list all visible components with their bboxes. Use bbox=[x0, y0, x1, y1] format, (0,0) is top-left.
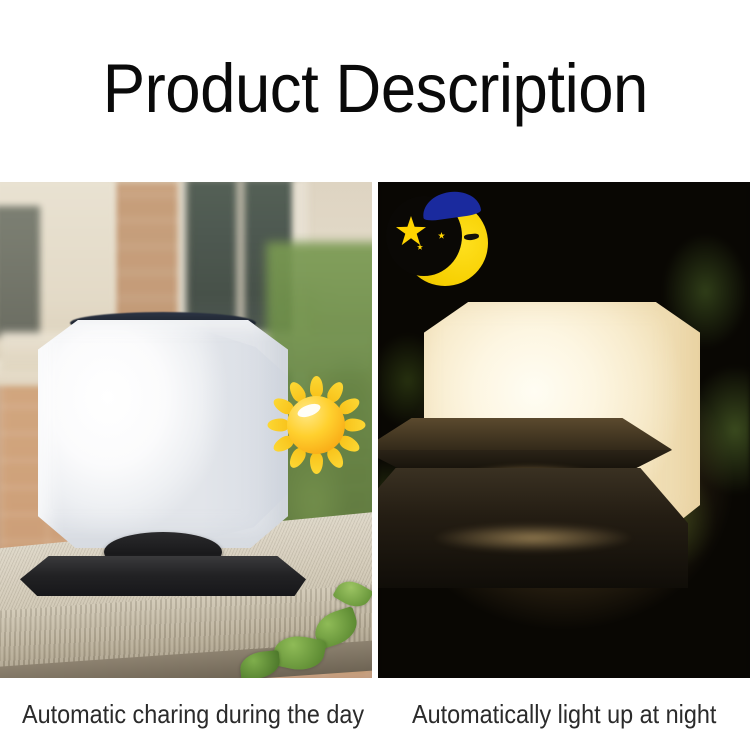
lamp-base-plate bbox=[20, 556, 306, 596]
sun-icon bbox=[268, 377, 364, 473]
caption-day: Automatic charing during the day bbox=[22, 678, 364, 750]
sun-ray bbox=[267, 419, 289, 432]
photo-strip bbox=[0, 182, 750, 678]
solar-pillar-lamp-day bbox=[38, 320, 288, 570]
page-title: Product Description bbox=[102, 49, 647, 128]
sun-ray bbox=[310, 452, 323, 474]
product-description-page: Product Description bbox=[0, 0, 750, 750]
light-spill-pillar bbox=[408, 518, 658, 558]
sun-ray bbox=[310, 376, 323, 398]
window-glass-left bbox=[0, 206, 40, 338]
moon-icon bbox=[394, 190, 500, 290]
photo-night[interactable] bbox=[378, 182, 750, 678]
caption-row: Automatic charing during the day Automat… bbox=[0, 678, 750, 750]
photo-day[interactable] bbox=[0, 182, 372, 678]
title-bar: Product Description bbox=[0, 0, 750, 182]
sun-ray bbox=[343, 419, 365, 432]
caption-night: Automatically light up at night bbox=[412, 678, 716, 750]
